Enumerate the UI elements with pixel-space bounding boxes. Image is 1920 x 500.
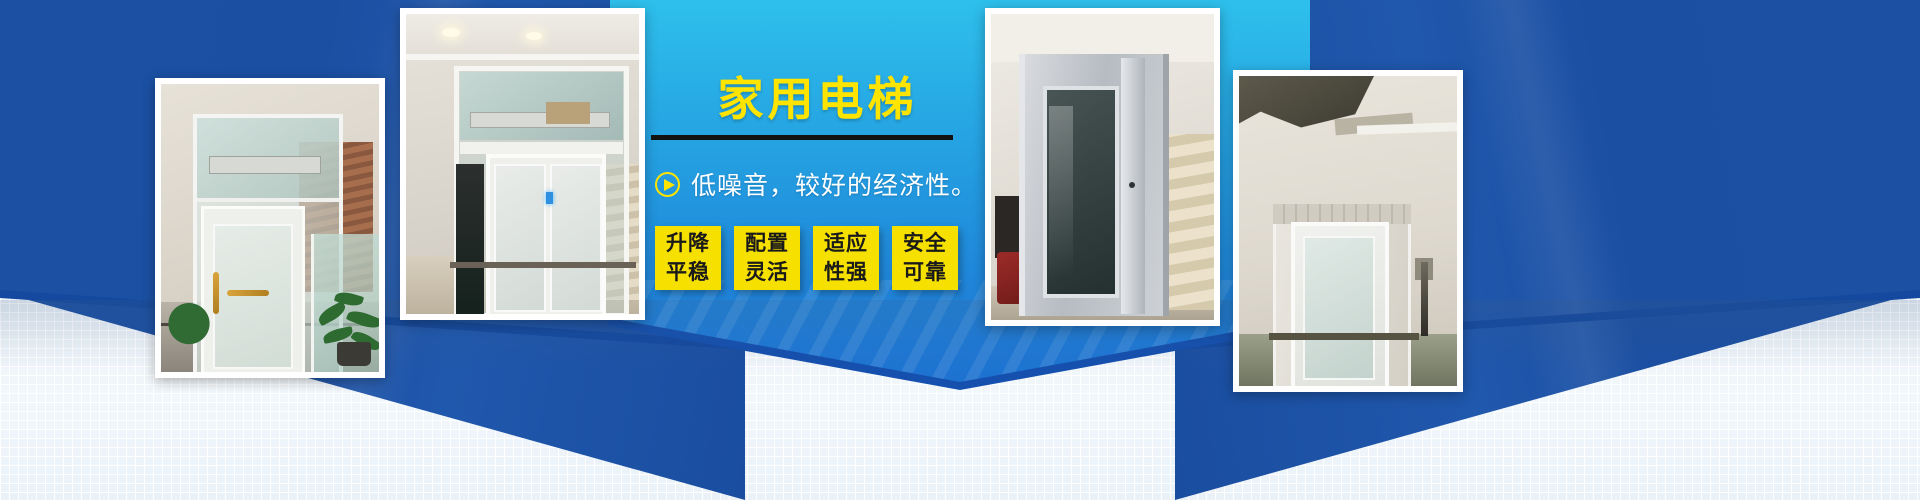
feature-badge: 适应 性强 (813, 226, 879, 290)
banner-title: 家用电梯 (645, 76, 990, 122)
home-elevator-banner: 家用电梯 低噪音，较好的经济性。 升降 平稳 配置 灵活 适应 性强 安全 可靠 (0, 0, 1920, 500)
banner-content: 家用电梯 低噪音，较好的经济性。 升降 平稳 配置 灵活 适应 性强 安全 可靠 (645, 0, 990, 500)
banner-subtitle-row: 低噪音，较好的经济性。 (655, 166, 985, 202)
badge-line-1: 升降 (666, 229, 710, 258)
feature-badge: 配置 灵活 (734, 226, 800, 290)
banner-subtitle: 低噪音，较好的经济性。 (691, 166, 977, 202)
badge-line-1: 配置 (745, 229, 789, 258)
badge-line-2: 性强 (824, 258, 868, 287)
badge-line-1: 安全 (903, 229, 947, 258)
photo-elevator-installation (1233, 70, 1463, 392)
title-divider (651, 135, 953, 140)
photo-2-image (406, 14, 639, 314)
feature-badge: 安全 可靠 (892, 226, 958, 290)
badge-line-2: 灵活 (745, 258, 789, 287)
badge-line-2: 可靠 (903, 258, 947, 287)
photo-3-image (991, 14, 1214, 320)
feature-badge: 升降 平稳 (655, 226, 721, 290)
badge-line-1: 适应 (824, 229, 868, 258)
photo-steel-elevator-stairs (985, 8, 1220, 326)
feature-badge-list: 升降 平稳 配置 灵活 适应 性强 安全 可靠 (655, 226, 958, 290)
photo-glass-elevator-with-plant (155, 78, 385, 378)
badge-line-2: 平稳 (666, 258, 710, 287)
photo-1-image (161, 84, 379, 372)
photo-indoor-elevator-hallway (400, 8, 645, 320)
circle-arrow-right-icon (655, 172, 680, 197)
photo-4-image (1239, 76, 1457, 386)
